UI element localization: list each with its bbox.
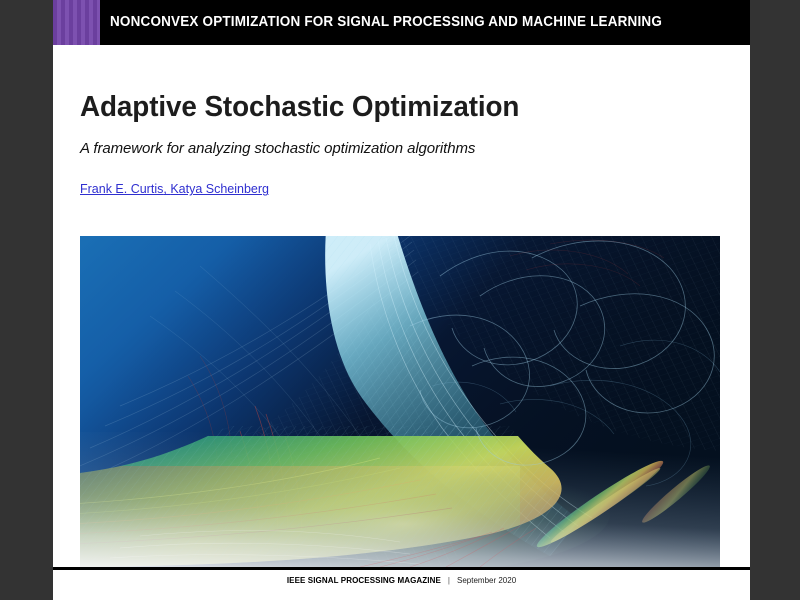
footer-magazine-name: IEEE SIGNAL PROCESSING MAGAZINE [287,576,441,585]
document-page: NONCONVEX OPTIMIZATION FOR SIGNAL PROCES… [53,0,750,600]
footer-content: IEEE SIGNAL PROCESSING MAGAZINE|Septembe… [287,571,516,586]
article-header: Adaptive Stochastic Optimization A frame… [80,45,750,196]
masthead-title: NONCONVEX OPTIMIZATION FOR SIGNAL PROCES… [110,0,662,45]
hero-figure [80,236,720,567]
page-footer: IEEE SIGNAL PROCESSING MAGAZINE|Septembe… [53,570,750,600]
footer-pipe-separator: | [441,576,457,585]
footer-issue-date: September 2020 [457,576,516,585]
author-link-2[interactable]: Katya Scheinberg [170,182,269,196]
article-title: Adaptive Stochastic Optimization [80,45,723,122]
abstract-generative-artwork-image [80,236,720,567]
article-subtitle: A framework for analyzing stochastic opt… [80,122,750,157]
masthead-banner: NONCONVEX OPTIMIZATION FOR SIGNAL PROCES… [53,0,750,45]
browser-viewport: NONCONVEX OPTIMIZATION FOR SIGNAL PROCES… [0,0,800,600]
author-link-1[interactable]: Frank E. Curtis [80,182,163,196]
article-authors: Frank E. Curtis, Katya Scheinberg [80,157,750,196]
masthead-stripe-decoration [53,0,100,45]
